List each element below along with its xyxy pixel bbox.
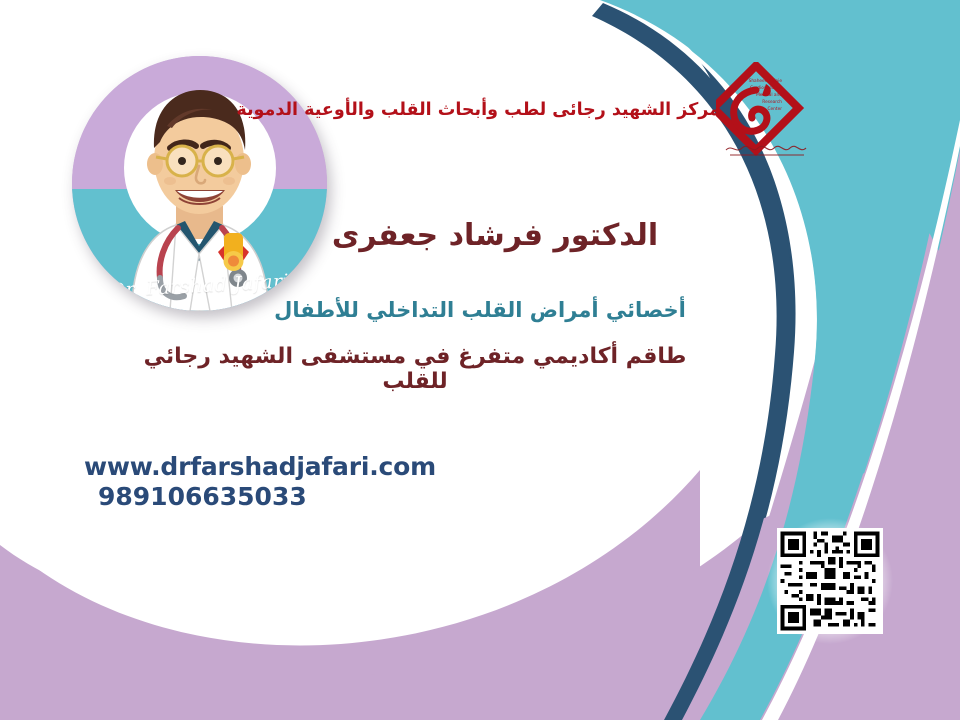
website-link[interactable]: www.drfarshadjafari.com	[84, 452, 436, 482]
center-name-heading: مركز الشهيد رجائى لطب وأبحاث القلب والأو…	[320, 100, 720, 120]
doctor-affiliation: طاقم أكاديمي متفرغ في مستشفى الشهيد رجائ…	[110, 344, 720, 394]
svg-text:Center: Center	[768, 106, 783, 112]
doctor-specialty: أخصائي أمراض القلب التداخلي للأطفال	[230, 298, 730, 322]
qr-code[interactable]	[777, 528, 883, 634]
hospital-logo: Shaheed Rajaie Cardiovascular Medical an…	[716, 62, 826, 172]
svg-text:Research: Research	[762, 99, 782, 105]
qr-code-container	[767, 518, 893, 644]
business-card: Dr. Farshad Jafari Shaheed Rajaie Cardio…	[0, 0, 960, 720]
svg-text:Medical and: Medical and	[756, 92, 782, 98]
svg-text:Shaheed Rajaie: Shaheed Rajaie	[749, 78, 783, 84]
doctor-avatar: Dr. Farshad Jafari	[72, 56, 327, 311]
doctor-name: الدكتور فرشاد جعفرى	[260, 218, 730, 253]
svg-text:Cardiovascular: Cardiovascular	[750, 85, 782, 91]
doctor-portrait-illustration	[72, 56, 327, 311]
phone-number[interactable]: 989106635033	[84, 482, 436, 512]
contact-block: www.drfarshadjafari.com 989106635033	[84, 452, 436, 511]
